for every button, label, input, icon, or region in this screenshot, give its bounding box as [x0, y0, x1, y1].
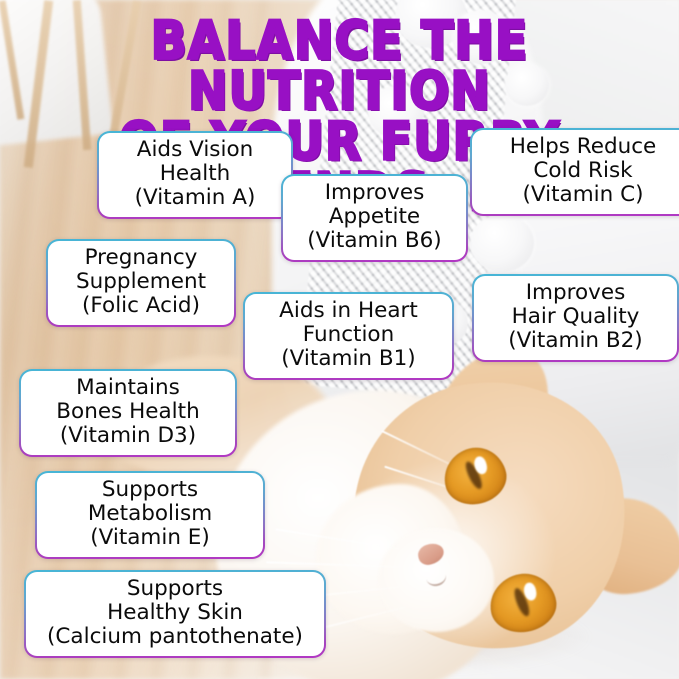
- callout-supports-healthy-skin: Supports Healthy Skin (Calcium pantothen…: [24, 570, 326, 658]
- callout-helps-reduce-cold-risk: Helps Reduce Cold Risk (Vitamin C): [470, 128, 679, 216]
- callout-maintains-bones-health: Maintains Bones Health (Vitamin D3): [19, 369, 237, 457]
- throw-pompom: [470, 214, 534, 272]
- throw-pompom: [368, 86, 424, 138]
- callout-supports-metabolism: Supports Metabolism (Vitamin E): [35, 471, 265, 559]
- throw-pompom: [505, 64, 549, 106]
- product-infographic-poster: BALANCE THE NUTRITION OF YOUR FURRY FRIE…: [0, 0, 679, 679]
- throw-pompom: [452, 10, 510, 64]
- callout-aids-in-heart-function: Aids in Heart Function (Vitamin B1): [243, 292, 454, 380]
- callout-pregnancy-supplement: Pregnancy Supplement (Folic Acid): [46, 239, 236, 327]
- callout-improves-appetite: Improves Appetite (Vitamin B6): [281, 174, 468, 262]
- callout-improves-hair-quality: Improves Hair Quality (Vitamin B2): [472, 274, 679, 362]
- callout-aids-vision-health: Aids Vision Health (Vitamin A): [97, 131, 293, 219]
